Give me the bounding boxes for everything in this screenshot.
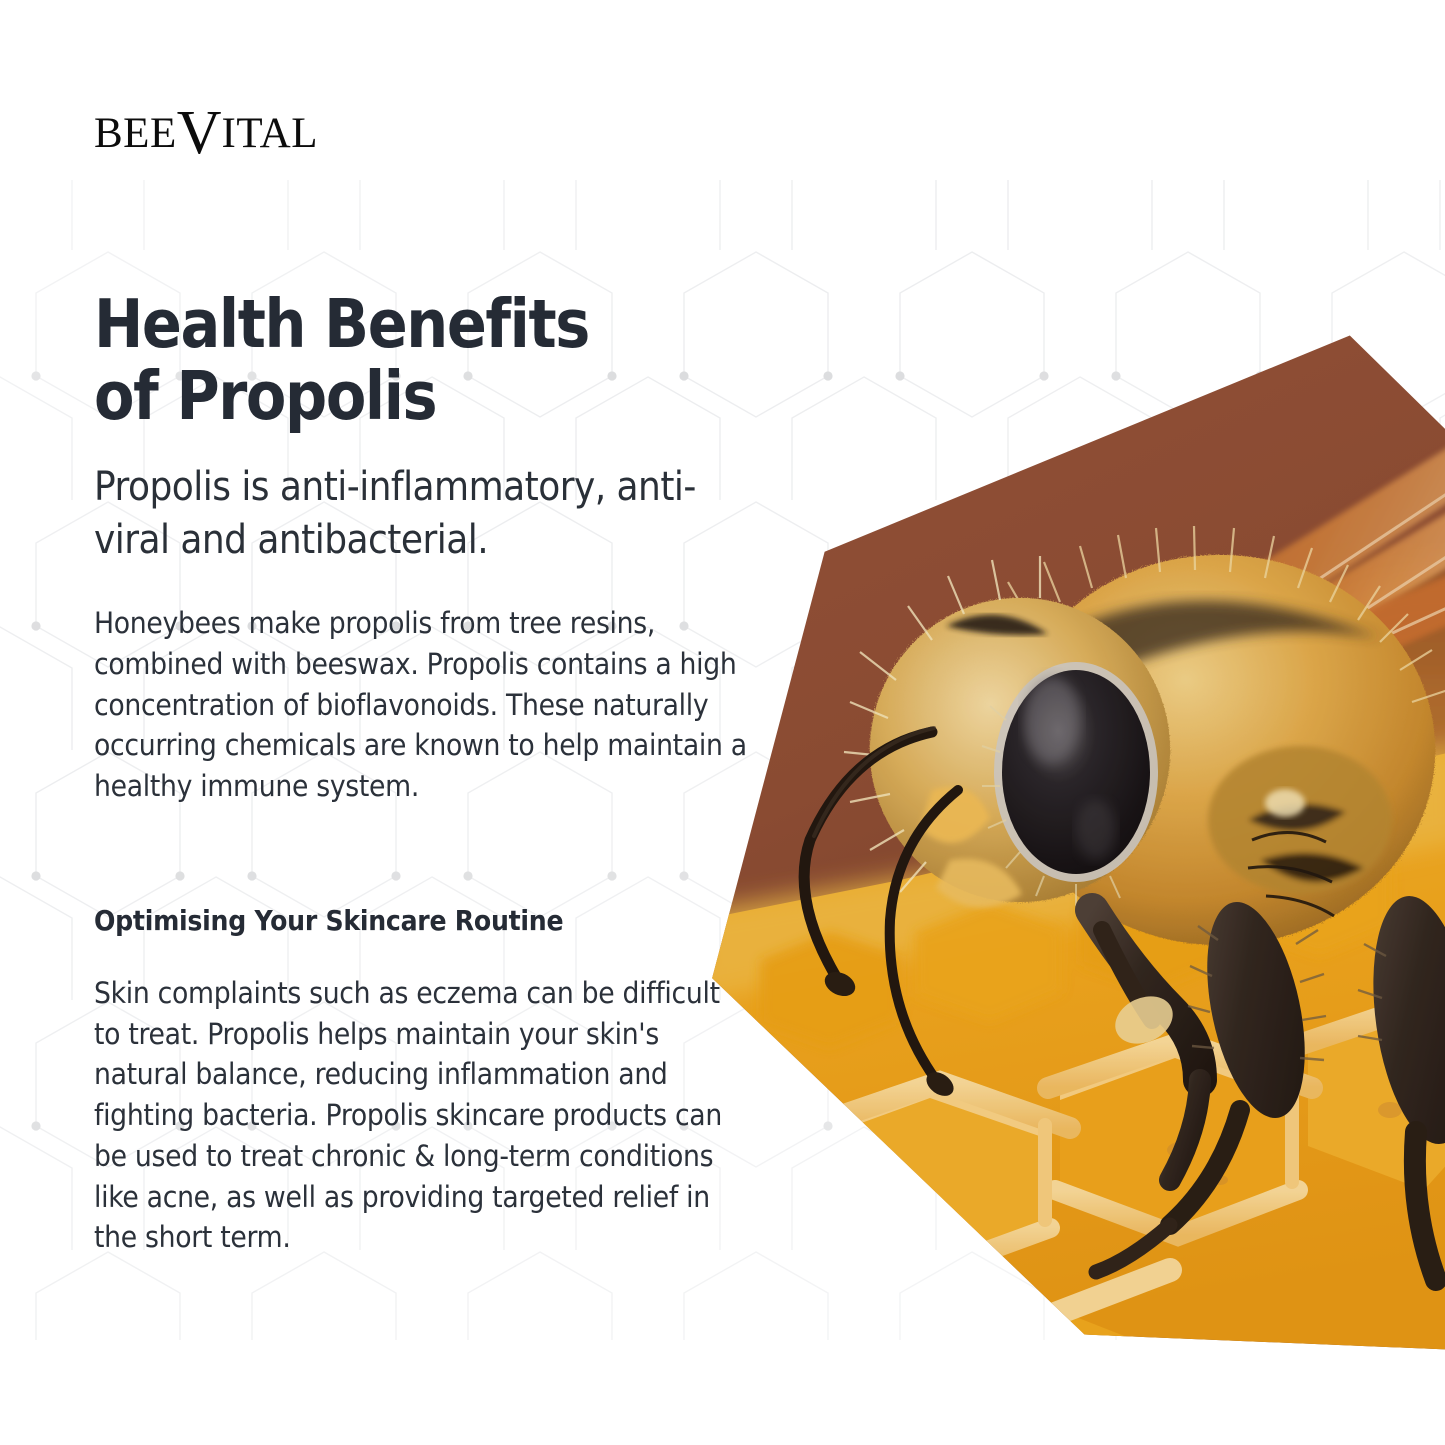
body-paragraph-2: Skin complaints such as eczema can be di…: [94, 973, 750, 1258]
logo-text-bee: BEE: [94, 110, 177, 157]
bee-photo-hexagon: [700, 320, 1445, 1350]
bee-photo-image: [700, 320, 1445, 1350]
logo-text-ital: ITAL: [222, 110, 318, 157]
brand-logo[interactable]: BEEVITAL: [94, 96, 318, 158]
page-title: Health Benefits of Propolis: [94, 288, 657, 433]
section-heading-skincare: Optimising Your Skincare Routine: [94, 903, 724, 939]
subheadline: Propolis is anti-inflammatory, anti-vira…: [94, 461, 724, 567]
logo-text-v: V: [177, 99, 222, 167]
poster-canvas: BEEVITAL: [0, 0, 1445, 1445]
article-text-column: Health Benefits of Propolis Propolis is …: [94, 288, 754, 1258]
body-paragraph-1: Honeybees make propolis from tree resins…: [94, 603, 750, 807]
